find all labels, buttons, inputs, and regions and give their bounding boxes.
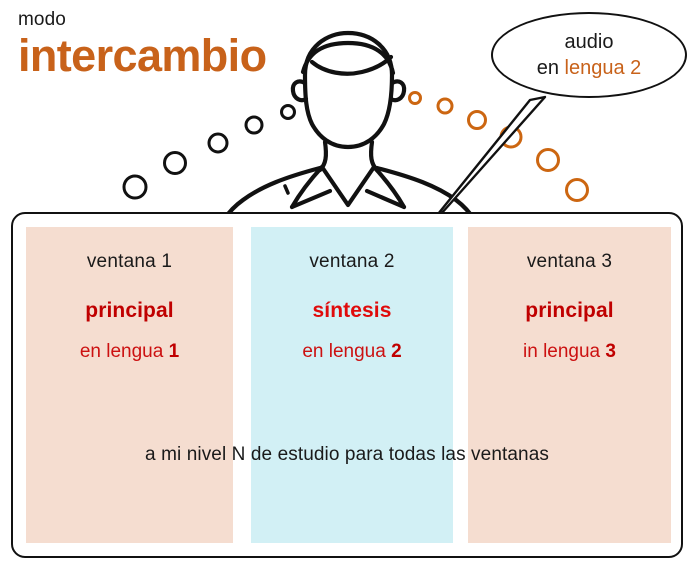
column-language-number: 3 [605,341,616,362]
column-language-number: 2 [391,341,402,362]
column-title: ventana 1 [26,251,233,273]
bubble-highlight: lengua 2 [565,57,642,79]
columns-container: ventana 1 principal en lengua 1 ventana … [26,227,671,543]
page-title: intercambio [18,32,348,81]
speech-bubble: audio en lengua 2 [491,12,687,98]
column-ventana-2[interactable]: ventana 2 síntesis en lengua 2 [251,227,453,543]
bubble-line-audio: audio [565,30,614,54]
column-ventana-3[interactable]: ventana 3 principal in lengua 3 [468,227,671,543]
column-language-prefix: en lengua [302,341,391,362]
column-language: en lengua 2 [251,341,453,363]
column-language-prefix: en lengua [80,341,169,362]
column-language-prefix: in lengua [523,341,605,362]
column-role: principal [26,299,233,323]
column-title: ventana 2 [251,251,453,273]
column-ventana-1[interactable]: ventana 1 principal en lengua 1 [26,227,233,543]
stray-mark [285,186,288,193]
column-title: ventana 3 [468,251,671,273]
column-role: principal [468,299,671,323]
bubble-line-language: en lengua 2 [537,56,642,80]
panel-caption: a mi nivel N de estudio para todas las v… [11,444,683,466]
column-language: en lengua 1 [26,341,233,363]
header: modo intercambio [18,10,348,81]
bubble-prefix: en [537,57,565,79]
column-language-number: 1 [169,341,180,362]
column-language: in lengua 3 [468,341,671,363]
column-role: síntesis [251,299,453,323]
orange-circles-trail [410,93,588,201]
black-circles-trail [124,106,295,199]
kicker-label: modo [18,10,348,30]
